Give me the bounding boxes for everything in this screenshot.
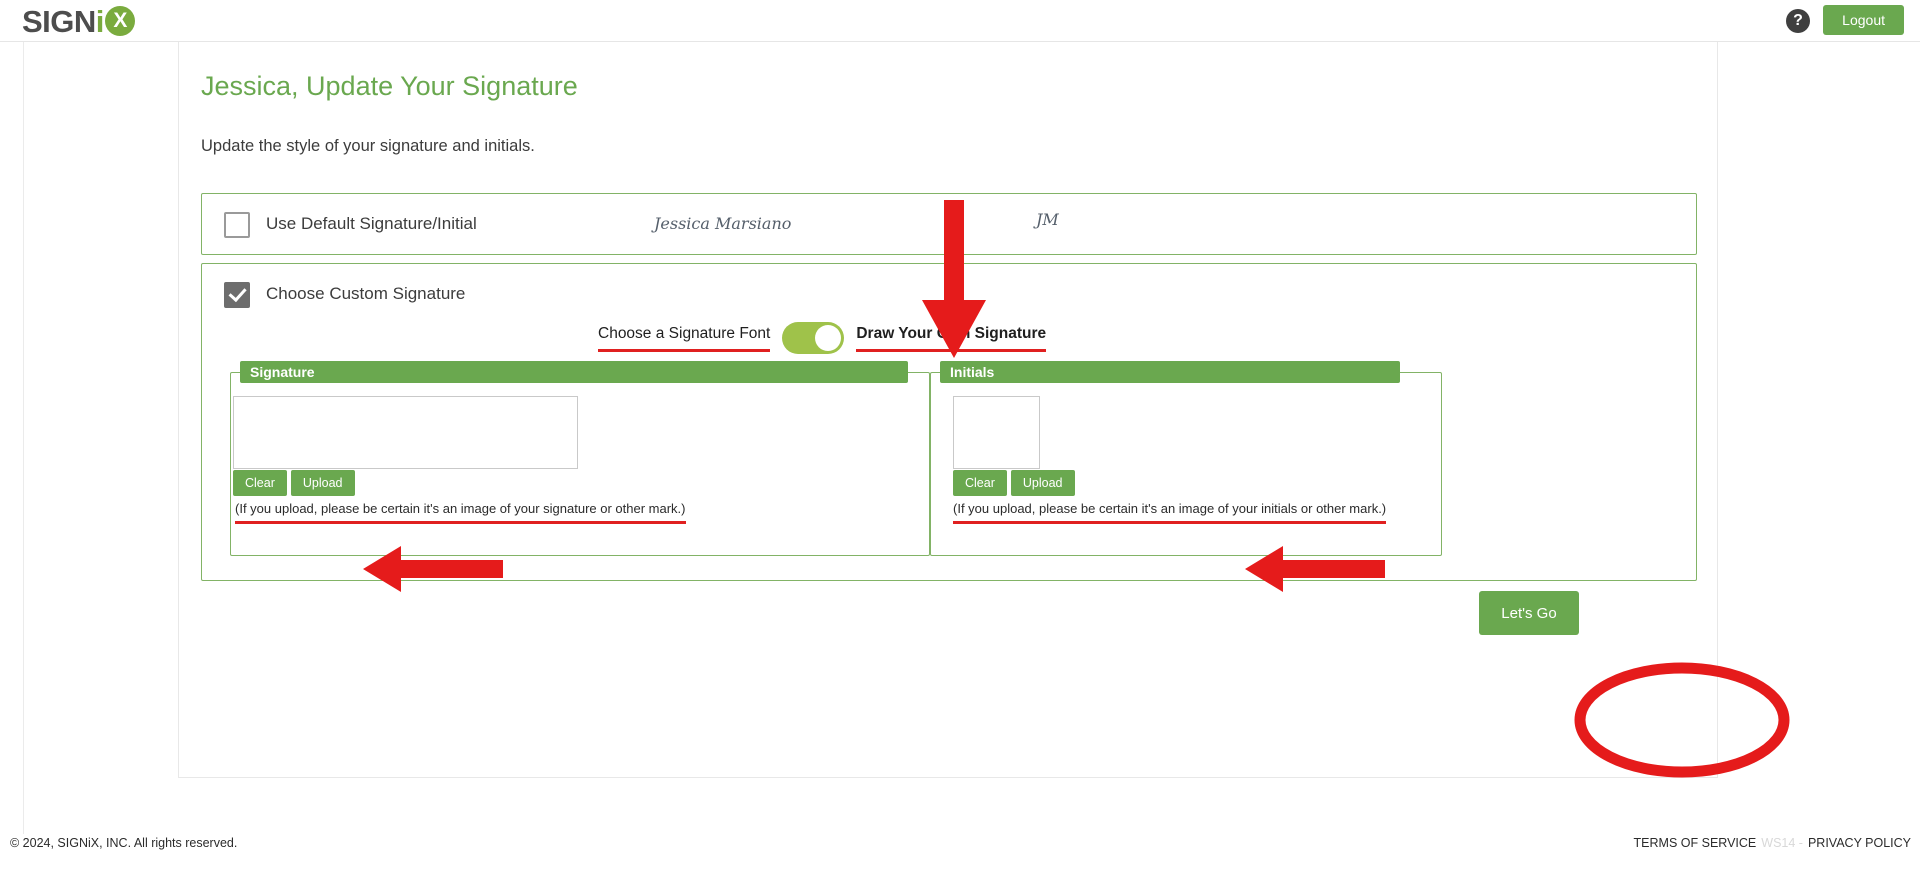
logo-text-i: i <box>96 6 105 37</box>
signature-upload-hint: (If you upload, please be certain it's a… <box>235 501 686 524</box>
choose-custom-signature-checkbox[interactable] <box>224 282 250 308</box>
use-default-signature-label: Use Default Signature/Initial <box>266 214 477 234</box>
initials-panel: Initials Clear Upload (If you upload, pl… <box>930 372 1442 556</box>
signature-mode-toggle[interactable] <box>782 322 844 354</box>
page-title: Jessica, Update Your Signature <box>201 71 578 102</box>
default-initials-preview: JM <box>1036 210 1059 229</box>
choose-custom-signature-label: Choose Custom Signature <box>266 284 465 304</box>
signature-mode-toggle-row: Choose a Signature Font Draw Your Own Si… <box>598 322 1046 354</box>
help-icon[interactable]: ? <box>1786 9 1810 33</box>
signature-clear-button[interactable]: Clear <box>233 470 287 496</box>
default-signature-section: Use Default Signature/Initial Jessica Ma… <box>201 193 1697 255</box>
footer-links: TERMS OF SERVICE WS14 - PRIVACY POLICY <box>1634 836 1911 850</box>
page-subtitle: Update the style of your signature and i… <box>201 137 535 156</box>
main-content-card: Jessica, Update Your Signature Update th… <box>178 28 1718 778</box>
signature-panel: Signature Clear Upload (If you upload, p… <box>230 372 930 556</box>
signature-draw-canvas[interactable] <box>233 396 578 469</box>
footer-separator: WS14 - <box>1761 836 1803 850</box>
initials-button-row: Clear Upload <box>953 470 1075 496</box>
toggle-label-choose-font[interactable]: Choose a Signature Font <box>598 325 770 352</box>
logo-x-icon: X <box>105 6 135 36</box>
footer-copyright: © 2024, SIGNiX, INC. All rights reserved… <box>10 836 237 850</box>
signature-panel-header: Signature <box>240 361 908 383</box>
toggle-label-draw-own[interactable]: Draw Your Own Signature <box>856 325 1046 352</box>
lets-go-button[interactable]: Let's Go <box>1479 591 1579 635</box>
initials-panel-header: Initials <box>940 361 1400 383</box>
terms-of-service-link[interactable]: TERMS OF SERVICE <box>1634 836 1757 850</box>
signature-button-row: Clear Upload <box>233 470 355 496</box>
signature-upload-button[interactable]: Upload <box>291 470 355 496</box>
custom-signature-section: Choose Custom Signature Choose a Signatu… <box>201 263 1697 581</box>
signix-logo[interactable]: SIGN i X <box>22 0 135 42</box>
top-bar: SIGN i X ? Logout <box>0 0 1920 42</box>
initials-upload-hint: (If you upload, please be certain it's a… <box>953 501 1386 524</box>
use-default-signature-checkbox[interactable] <box>224 212 250 238</box>
initials-upload-button[interactable]: Upload <box>1011 470 1075 496</box>
left-rail <box>0 42 24 834</box>
default-signature-preview: Jessica Marsiano <box>654 214 791 233</box>
initials-clear-button[interactable]: Clear <box>953 470 1007 496</box>
initials-draw-canvas[interactable] <box>953 396 1040 469</box>
logo-text-sign: SIGN <box>22 6 96 37</box>
toggle-knob <box>815 325 841 351</box>
logout-button[interactable]: Logout <box>1823 5 1904 35</box>
privacy-policy-link[interactable]: PRIVACY POLICY <box>1808 836 1911 850</box>
